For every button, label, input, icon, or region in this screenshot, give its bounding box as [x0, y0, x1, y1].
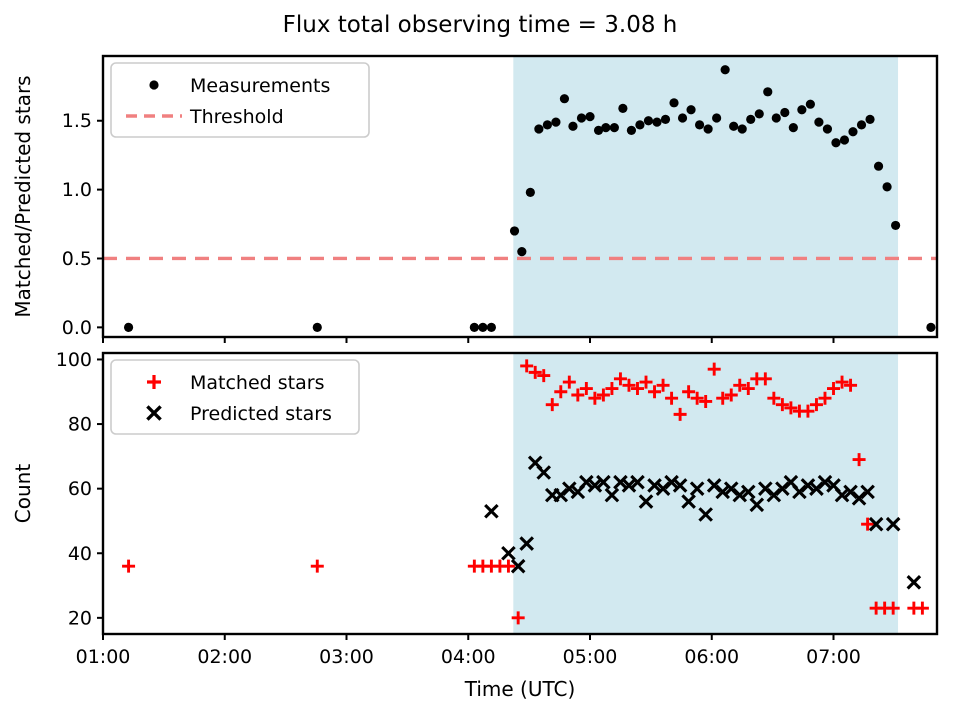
data-point — [669, 98, 678, 107]
data-point — [729, 122, 738, 131]
x-tick-label: 04:00 — [441, 646, 496, 668]
x-tick-label: 06:00 — [684, 646, 739, 668]
y-tick-label: 40 — [68, 543, 92, 565]
data-point — [780, 108, 789, 117]
data-point — [789, 123, 798, 132]
data-point — [652, 118, 661, 127]
y-tick-label: 100 — [56, 349, 92, 371]
data-point — [124, 323, 133, 332]
data-point — [721, 65, 730, 74]
data-point — [857, 120, 866, 129]
y-tick-label: 80 — [68, 414, 92, 436]
x-axis-title: Time (UTC) — [464, 677, 576, 701]
data-point — [848, 127, 857, 136]
data-point — [644, 116, 653, 125]
data-point — [601, 123, 610, 132]
legend-label: Matched stars — [190, 372, 324, 394]
legend-label: Predicted stars — [190, 403, 332, 425]
data-point — [534, 124, 543, 133]
data-point — [797, 105, 806, 114]
data-point — [874, 162, 883, 171]
x-tick-label: 02:00 — [197, 646, 252, 668]
data-point — [585, 112, 594, 121]
data-point — [831, 138, 840, 147]
data-point — [627, 126, 636, 135]
bottom-panel-star-counts: 2040608010001:0002:0003:0004:0005:0006:0… — [11, 349, 937, 701]
legend: MeasurementsThreshold — [111, 63, 369, 137]
y-tick-label: 0.5 — [62, 248, 92, 270]
data-point — [470, 323, 479, 332]
data-point — [551, 118, 560, 127]
x-tick-label: 07:00 — [806, 646, 861, 668]
data-point — [635, 120, 644, 129]
data-point — [916, 602, 929, 615]
figure-container: Flux total observing time = 3.08 h 0.00.… — [0, 0, 960, 720]
data-point — [502, 547, 514, 559]
flux-observing-chart: Flux total observing time = 3.08 h 0.00.… — [0, 0, 960, 720]
data-point — [806, 100, 815, 109]
data-point — [526, 188, 535, 197]
data-point — [618, 104, 627, 113]
y-tick-label: 0.0 — [62, 317, 92, 339]
data-point — [814, 118, 823, 127]
data-point — [746, 115, 755, 124]
data-point — [485, 505, 497, 517]
data-point — [577, 113, 586, 122]
data-point — [772, 113, 781, 122]
data-point — [763, 87, 772, 96]
data-point — [560, 94, 569, 103]
data-point — [543, 120, 552, 129]
data-point — [487, 323, 496, 332]
data-point — [712, 113, 721, 122]
top-panel-matched-predicted-ratio: 0.00.51.01.5Matched/Predicted starsMeasu… — [11, 56, 937, 343]
data-point — [510, 226, 519, 235]
y-axis-title: Matched/Predicted stars — [11, 75, 35, 317]
legend-label: Threshold — [189, 106, 284, 128]
data-point — [840, 135, 849, 144]
data-point — [517, 247, 526, 256]
data-point — [478, 323, 487, 332]
data-point — [686, 105, 695, 114]
data-point — [738, 124, 747, 133]
data-point — [908, 576, 920, 588]
x-tick-label: 05:00 — [563, 646, 618, 668]
y-tick-label: 1.5 — [62, 110, 92, 132]
data-point — [313, 323, 322, 332]
data-point — [704, 124, 713, 133]
data-point — [568, 122, 577, 131]
y-axis-title: Count — [11, 464, 35, 524]
observing-window-band — [513, 56, 898, 337]
data-point — [823, 124, 832, 133]
y-tick-label: 1.0 — [62, 179, 92, 201]
data-point — [865, 115, 874, 124]
data-point — [678, 113, 687, 122]
x-tick-label: 03:00 — [319, 646, 374, 668]
legend-label: Measurements — [190, 75, 330, 97]
data-point — [122, 560, 135, 573]
y-tick-label: 60 — [68, 478, 92, 500]
legend-marker-dot-icon — [149, 80, 158, 89]
legend: Matched starsPredicted stars — [111, 360, 359, 434]
page-title: Flux total observing time = 3.08 h — [283, 12, 678, 38]
y-tick-label: 20 — [68, 607, 92, 629]
x-tick-label: 01:00 — [76, 646, 131, 668]
data-point — [661, 115, 670, 124]
data-point — [311, 560, 324, 573]
data-point — [695, 120, 704, 129]
data-point — [755, 109, 764, 118]
data-point — [882, 182, 891, 191]
data-point — [891, 221, 900, 230]
data-point — [610, 123, 619, 132]
data-point — [926, 323, 935, 332]
